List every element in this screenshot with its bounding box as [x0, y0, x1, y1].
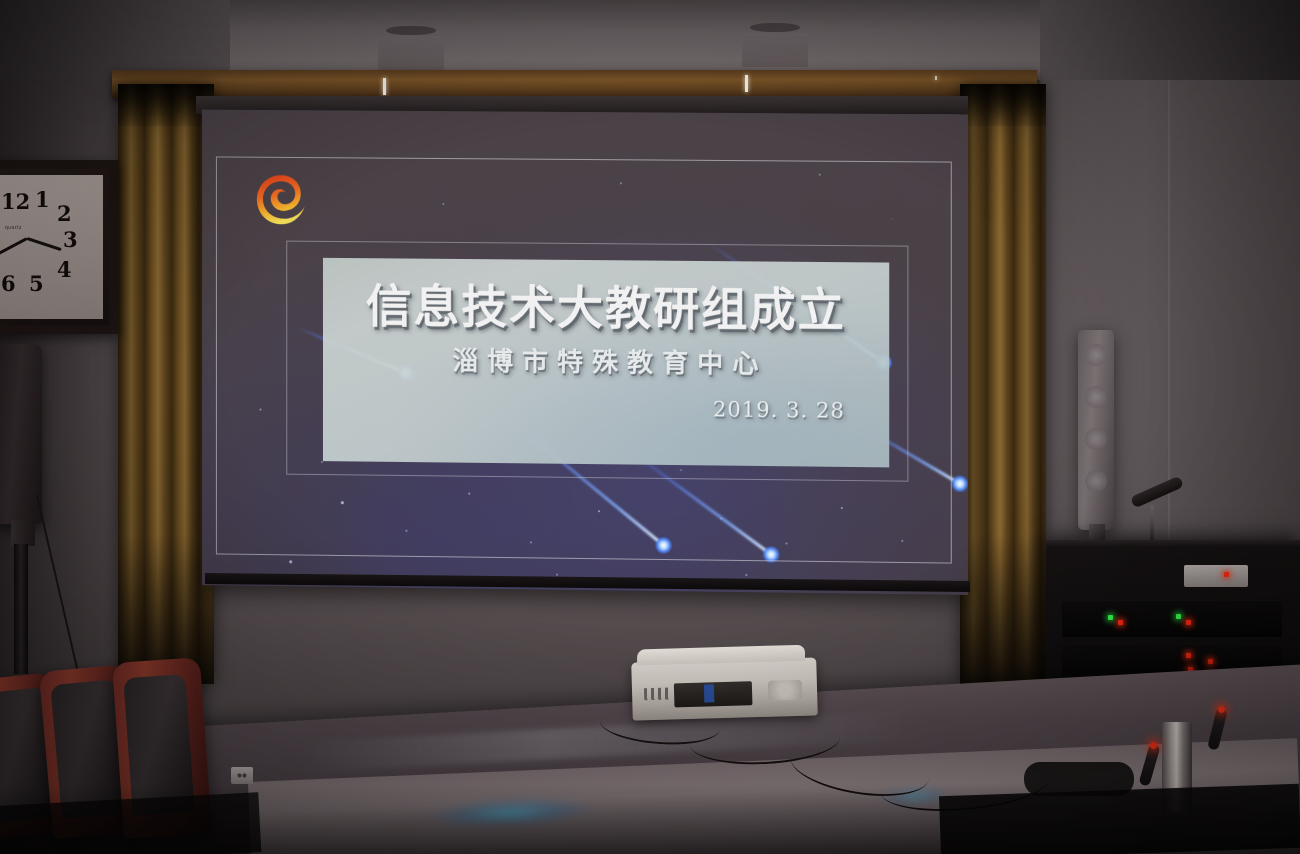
desk-microphone-1-led — [1150, 742, 1157, 749]
rack-led-green-2 — [1176, 614, 1181, 619]
rack-led-red-4 — [1208, 659, 1213, 664]
rack-unit-1 — [1062, 600, 1282, 637]
rack-led-green-1 — [1108, 615, 1113, 620]
slide-title-panel: 信息技术大教研组成立 淄博市特殊教育中心 2019. 3. 28 — [323, 258, 889, 468]
left-speaker-mount — [11, 520, 35, 546]
valance-highlight-3 — [935, 76, 937, 80]
curtain-right-top-shadow — [960, 84, 1046, 126]
rack-control-panel[interactable] — [1184, 565, 1248, 587]
clock-number-1: 1 — [35, 187, 50, 212]
rack-top-surface — [1046, 540, 1300, 548]
projection-screen: 信息技术大教研组成立 淄博市特殊教育中心 2019. 3. 28 — [202, 110, 968, 595]
conference-room-photo: 信息技术大教研组成立 淄博市特殊教育中心 2019. 3. 28 12 1 2 … — [0, 0, 1300, 854]
clock-number-5: 5 — [29, 271, 44, 296]
projector-button-row[interactable] — [644, 688, 670, 701]
curtain-valance — [112, 70, 1037, 98]
curtain-left — [118, 84, 214, 684]
slide-star-18 — [745, 574, 747, 576]
slide-subtitle: 淄博市特殊教育中心 — [323, 340, 889, 383]
curtain-right — [960, 84, 1046, 684]
speaker-cone-2 — [1085, 386, 1107, 408]
rack-led-red-2 — [1186, 620, 1191, 625]
rack-led-red-3 — [1186, 653, 1191, 658]
projector-top-cover — [637, 645, 805, 666]
slide-title: 信息技术大教研组成立 — [323, 270, 889, 341]
clock-face: 12 1 2 3 4 5 6 quartz — [0, 175, 103, 319]
slide-date: 2019. 3. 28 — [713, 397, 845, 422]
swirl-flame-logo-icon — [254, 172, 310, 228]
rack-panel-power-led — [1224, 572, 1229, 577]
speaker-cone-1 — [1085, 344, 1107, 366]
left-speaker-stand — [14, 544, 28, 674]
chair-3-cushion — [123, 674, 194, 816]
curtain-right-bottom-shadow — [960, 534, 1046, 684]
projector-vent — [768, 680, 803, 701]
clock-hour-hand — [27, 237, 62, 251]
clock-number-2: 2 — [57, 201, 72, 226]
clock-number-12: 12 — [1, 189, 30, 214]
wall-power-outlet[interactable] — [231, 767, 253, 784]
rack-led-red-1 — [1118, 620, 1123, 625]
clock-number-3: 3 — [63, 227, 78, 252]
wall-clock: 12 1 2 3 4 5 6 quartz — [0, 160, 118, 334]
clock-brand-text: quartz — [5, 225, 22, 231]
desk-microphone-2-led — [1218, 706, 1225, 713]
valance-highlight-1 — [383, 78, 386, 95]
speaker-cone-3 — [1085, 428, 1107, 450]
speaker-cone-4 — [1085, 470, 1107, 492]
slide-star-16 — [289, 560, 292, 563]
ceiling-light-fixture-1 — [378, 36, 444, 70]
slide-star-17 — [556, 574, 558, 576]
ceiling-light-fixture-2 — [742, 33, 808, 67]
table-dark-object — [1024, 762, 1134, 796]
clock-minute-hand — [0, 237, 28, 260]
clock-number-6: 6 — [1, 271, 16, 296]
projector-vga-cable — [704, 684, 714, 702]
valance-highlight-2 — [745, 75, 748, 92]
clock-number-4: 4 — [57, 257, 72, 282]
right-column-speaker — [1078, 330, 1114, 530]
